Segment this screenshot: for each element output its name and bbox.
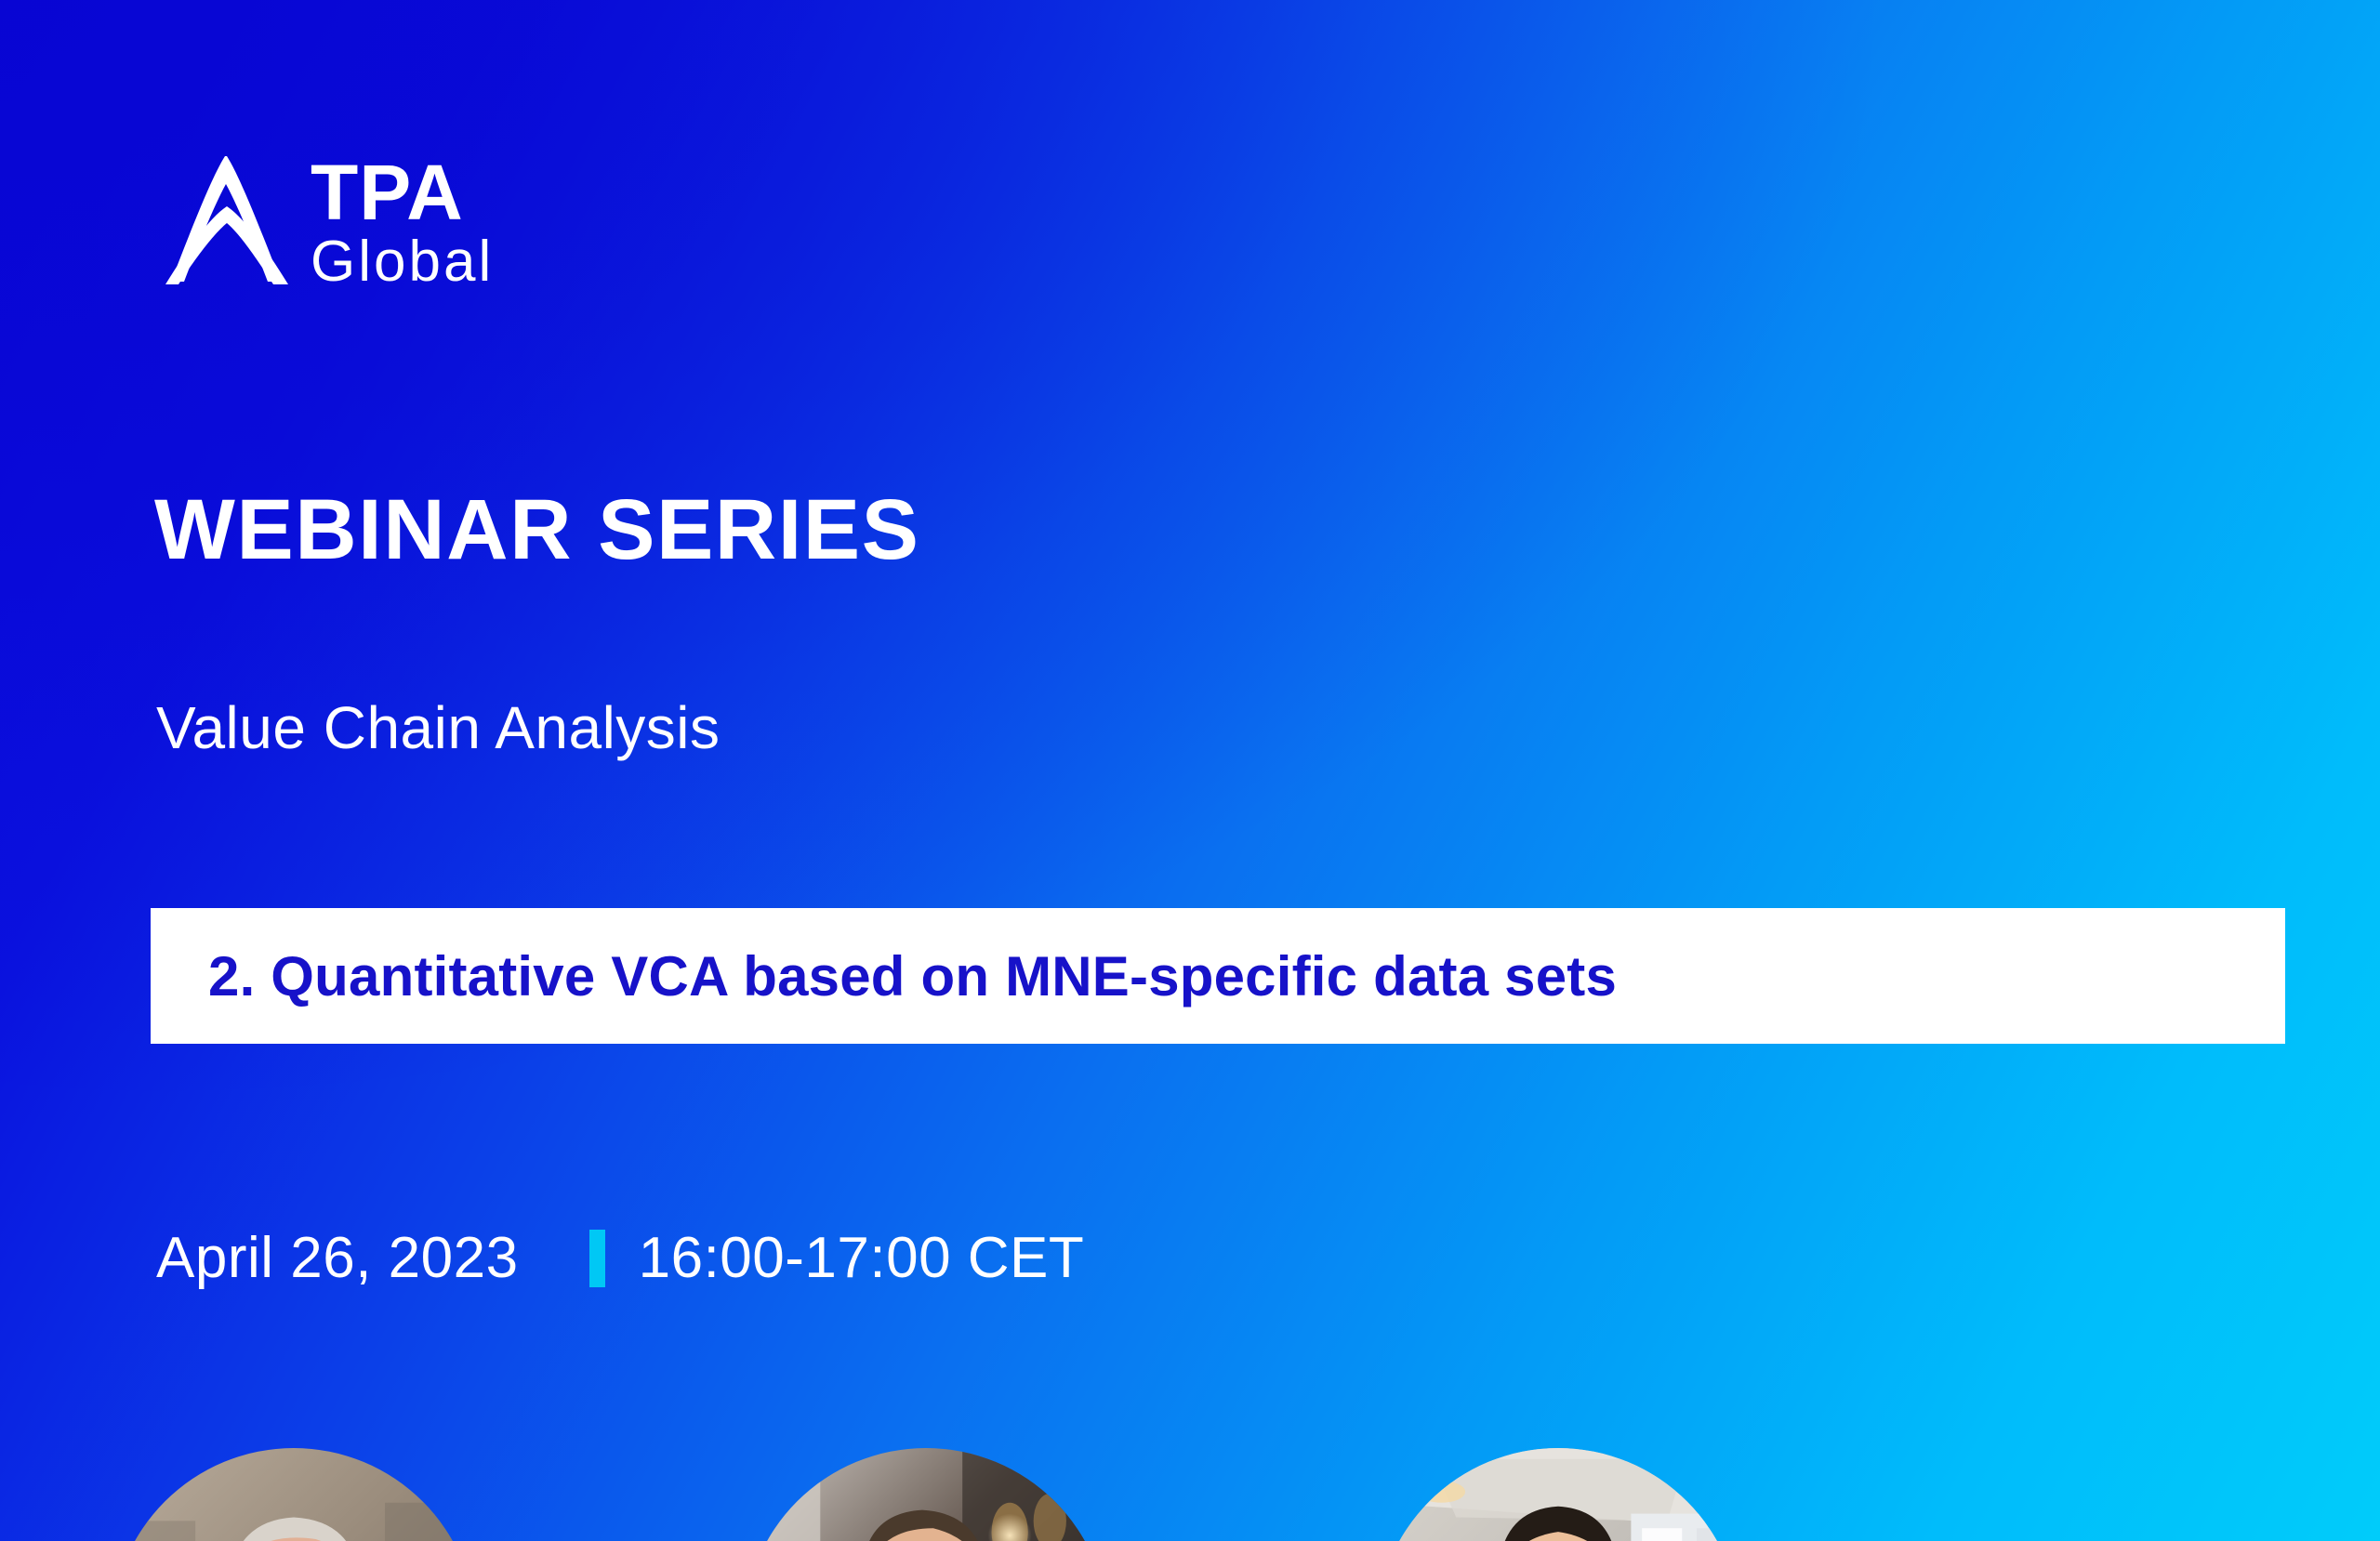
logo-wordmark: TPA Global (311, 149, 494, 292)
speaker-card: Amir Gholizadeh Junior Associate (1376, 1448, 1740, 1541)
webinar-promo-poster: TPA Global WEBINAR SERIES Value Chain An… (0, 0, 2380, 1541)
session-datetime: April 26, 2023 16:00-17:00 CET (156, 1225, 2380, 1292)
portrait-steef-huibregtse-image (112, 1448, 476, 1541)
portrait-amir-gholizadeh-image (1376, 1448, 1740, 1541)
portrait-steef-huibregtse-avatar (112, 1448, 476, 1541)
portrait-amir-gholizadeh-avatar (1376, 1448, 1740, 1541)
portrait-zoe-li-image (744, 1448, 1108, 1541)
logo-primary-text: TPA (311, 156, 494, 230)
speaker-card: Steef Huibregtse Senior Partner & CEO (112, 1448, 476, 1541)
speaker-list: Steef Huibregtse Senior Partner & CEO (112, 1448, 2045, 1541)
session-title-bar: 2. Quantitative VCA based on MNE-specifi… (151, 908, 2285, 1044)
session-date: April 26, 2023 (156, 1230, 519, 1287)
series-title: WEBINAR SERIES (154, 487, 2380, 573)
speaker-card: Zoe Li Senior Associate (744, 1448, 1108, 1541)
series-subtitle: Value Chain Analysis (156, 698, 2380, 757)
logo-secondary-text: Global (311, 231, 494, 292)
session-title: 2. Quantitative VCA based on MNE-specifi… (151, 944, 1617, 1008)
tpa-global-logo: TPA Global (156, 149, 2380, 292)
session-time: 16:00-17:00 CET (639, 1230, 1085, 1287)
datetime-divider (589, 1230, 605, 1287)
portrait-zoe-li-avatar (744, 1448, 1108, 1541)
tpa-arch-mountain-icon (156, 149, 296, 288)
